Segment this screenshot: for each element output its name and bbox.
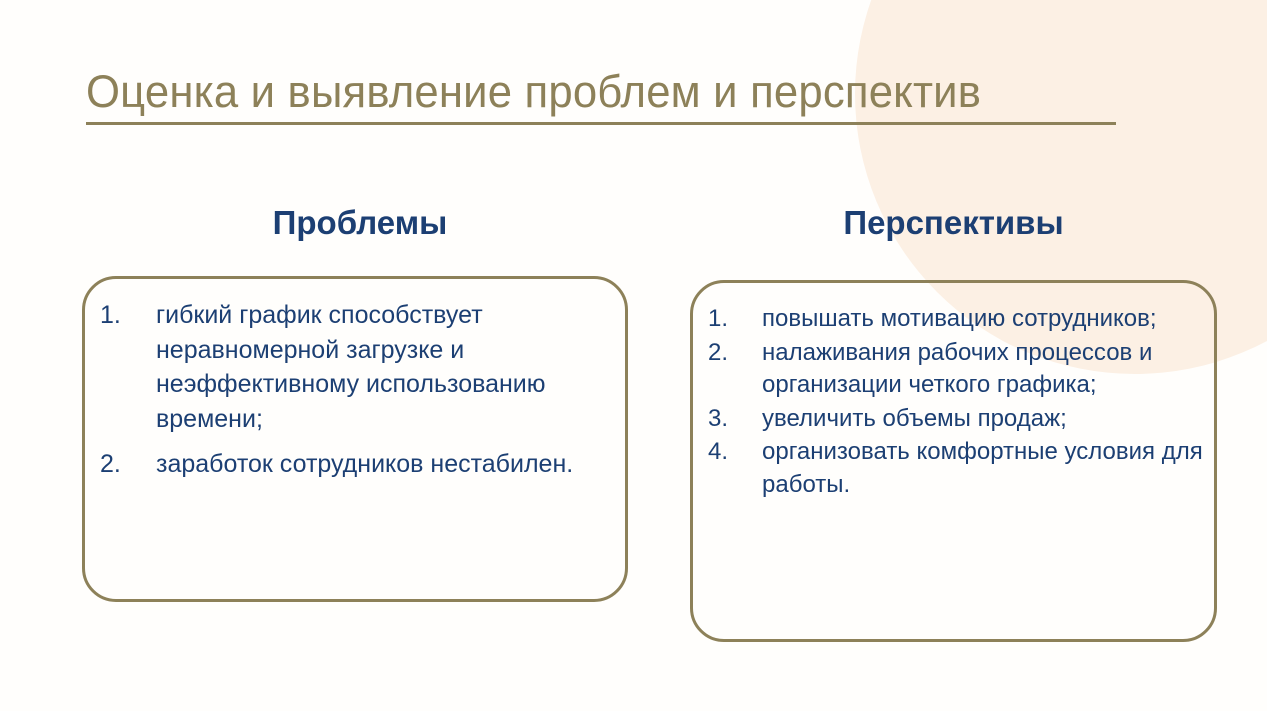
list-item-text: налаживания рабочих процессов и организа…: [762, 337, 1208, 402]
list-item: 4. организовать комфортные условия для р…: [708, 436, 1208, 501]
list-item: 2. заработок сотрудников нестабилен.: [100, 447, 620, 482]
list-item-number: 2.: [100, 447, 156, 482]
list-item: 1. гибкий график способствует неравномер…: [100, 298, 620, 436]
list-item-text: повышать мотивацию сотрудников;: [762, 303, 1208, 336]
list-item-number: 1.: [100, 298, 156, 333]
list-item-text: организовать комфортные условия для рабо…: [762, 436, 1208, 501]
column-header-problems: Проблемы: [90, 204, 630, 242]
title-underline-rule: [86, 122, 1116, 125]
problems-list: 1. гибкий график способствует неравномер…: [100, 298, 620, 493]
slide-canvas: Оценка и выявление проблем и перспектив …: [0, 0, 1267, 711]
page-title: Оценка и выявление проблем и перспектив: [86, 66, 1095, 118]
list-item-number: 3.: [708, 403, 762, 436]
list-item-text: увеличить объемы продаж;: [762, 403, 1208, 436]
list-item-number: 1.: [708, 303, 762, 336]
list-item-number: 4.: [708, 436, 762, 469]
slide-title-block: Оценка и выявление проблем и перспектив: [86, 66, 1126, 125]
list-item-text: гибкий график способствует неравномерной…: [156, 298, 620, 436]
list-item-number: 2.: [708, 337, 762, 370]
list-item-text: заработок сотрудников нестабилен.: [156, 447, 620, 482]
prospects-list: 1. повышать мотивацию сотрудников; 2. на…: [708, 303, 1208, 502]
list-item: 1. повышать мотивацию сотрудников;: [708, 303, 1208, 336]
list-item: 2. налаживания рабочих процессов и орган…: [708, 337, 1208, 402]
list-item: 3. увеличить объемы продаж;: [708, 403, 1208, 436]
column-header-prospects: Перспективы: [690, 204, 1217, 242]
